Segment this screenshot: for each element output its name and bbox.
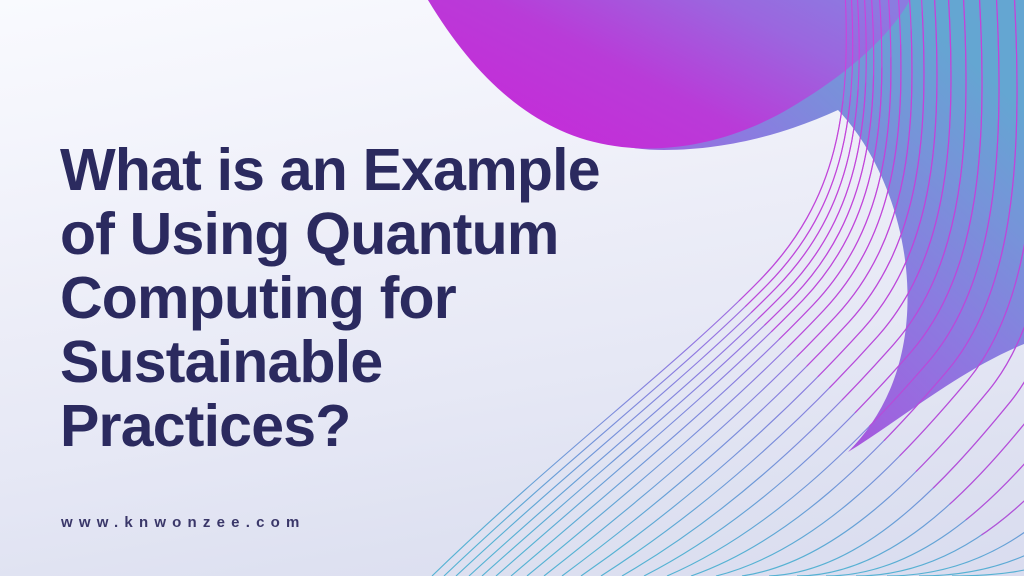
headline-line-2: of Using Quantum <box>60 202 700 266</box>
headline-line-4: Sustainable <box>60 330 700 394</box>
headline-line-5: Practices? <box>60 394 700 458</box>
title-card: What is an Example of Using Quantum Comp… <box>0 0 1024 576</box>
content-layer: What is an Example of Using Quantum Comp… <box>0 0 1024 576</box>
headline-line-1: What is an Example <box>60 138 700 202</box>
headline-line-3: Computing for <box>60 266 700 330</box>
page-title: What is an Example of Using Quantum Comp… <box>60 138 700 458</box>
site-url-label: www.knwonzee.com <box>61 514 306 531</box>
